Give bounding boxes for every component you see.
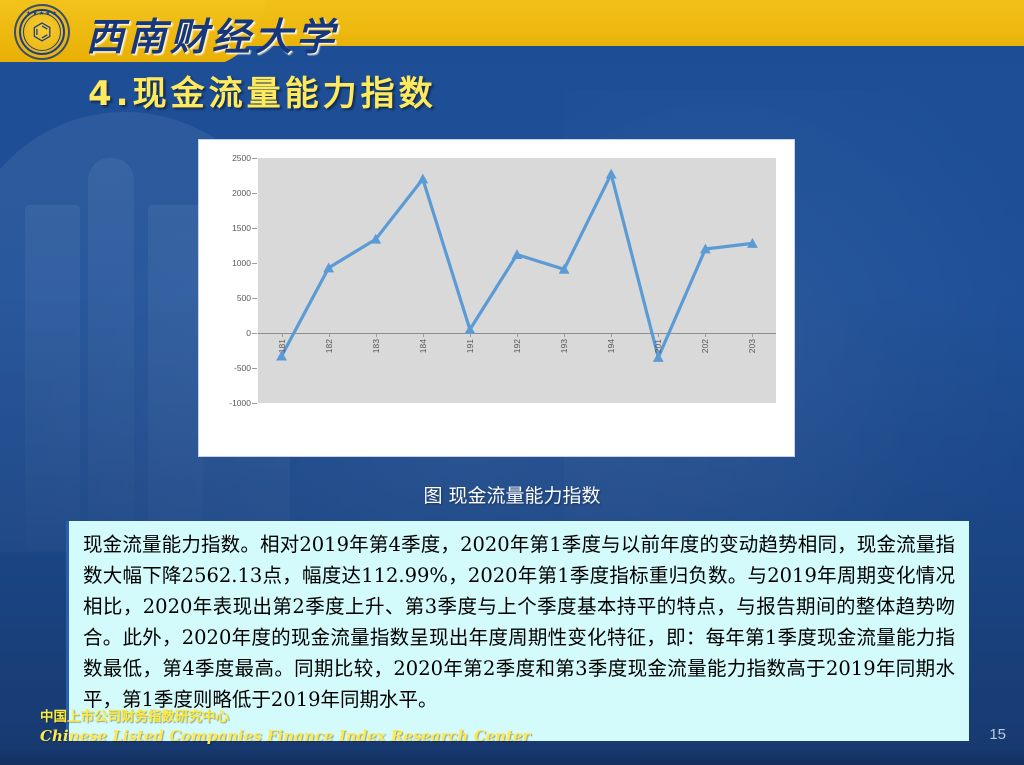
x-axis-tick-mark	[705, 333, 706, 337]
y-axis-tick-mark	[252, 263, 257, 264]
chart-plot-area	[258, 158, 776, 403]
y-axis-tick-mark	[252, 193, 257, 194]
body-paragraph: 现金流量能力指数。相对2019年第4季度，2020年第1季度与以前年度的变动趋势…	[83, 529, 955, 715]
x-axis-tick-mark	[517, 333, 518, 337]
y-axis-tick-label: 500	[199, 293, 251, 303]
bottom-strip	[0, 749, 1024, 765]
x-axis-tick-mark	[282, 333, 283, 337]
x-axis-tick-mark	[470, 333, 471, 337]
x-axis-tick-label: 182	[324, 339, 334, 353]
slide-canvas: ★★★★★ ⌬ 西南财经大学 4.现金流量能力指数 25002000150010…	[0, 0, 1024, 765]
footer-center-name-cn: 中国上市公司财务指数研究中心	[40, 705, 229, 725]
y-axis-tick-mark	[252, 368, 257, 369]
y-axis-tick-label: 2000	[199, 188, 251, 198]
x-axis-tick-mark	[658, 333, 659, 337]
header-banner: ★★★★★ ⌬ 西南财经大学	[0, 0, 1024, 62]
x-axis-tick-label: 191	[465, 339, 475, 353]
y-axis-tick-label: 2500	[199, 153, 251, 163]
page-title: 4.现金流量能力指数	[88, 66, 437, 115]
logo-stars-icon: ★★★★★	[14, 10, 70, 17]
x-axis-tick-mark	[376, 333, 377, 337]
y-axis-tick-mark	[252, 228, 257, 229]
page-number: 15	[989, 726, 1006, 743]
x-axis-tick-mark	[564, 333, 565, 337]
data-point-marker	[417, 174, 428, 184]
x-axis-tick-label: 193	[559, 339, 569, 353]
y-axis-tick-mark	[252, 403, 257, 404]
x-axis-tick-label: 181	[277, 339, 287, 353]
chart-caption: 图 现金流量能力指数	[0, 481, 1024, 508]
chart-container: 25002000150010005000-500-1000 1811821831…	[198, 139, 795, 457]
x-axis-tick-label: 202	[700, 339, 710, 353]
y-axis-tick-label: 1500	[199, 223, 251, 233]
series-line	[282, 174, 753, 357]
logo-glyph-icon: ⌬	[32, 22, 52, 45]
x-axis-tick-mark	[752, 333, 753, 337]
y-axis-tick-label: 0	[199, 328, 251, 338]
x-axis-tick-mark	[423, 333, 424, 337]
y-axis-tick-mark	[252, 158, 257, 159]
x-axis-tick-mark	[329, 333, 330, 337]
x-axis-tick-label: 183	[371, 339, 381, 353]
y-axis-tick-label: -1000	[199, 398, 251, 408]
y-axis-tick-mark	[252, 333, 257, 334]
x-axis-tick-label: 192	[512, 339, 522, 353]
footer-center-name-en: Chinese Listed Companies Finance Index R…	[40, 727, 530, 745]
chart-inner: 25002000150010005000-500-1000 1811821831…	[199, 140, 794, 456]
x-axis-tick-label: 203	[747, 339, 757, 353]
x-axis-tick-label: 201	[653, 339, 663, 353]
data-point-marker	[653, 352, 664, 362]
y-axis-tick-label: -500	[199, 363, 251, 373]
university-name: 西南财经大学	[86, 6, 338, 61]
x-axis-tick-label: 194	[606, 339, 616, 353]
university-logo-icon: ★★★★★ ⌬	[14, 4, 70, 60]
y-axis-tick-label: 1000	[199, 258, 251, 268]
x-axis-tick-mark	[611, 333, 612, 337]
data-point-marker	[606, 169, 617, 179]
line-series	[258, 158, 776, 403]
x-axis-tick-label: 184	[418, 339, 428, 353]
y-axis-tick-mark	[252, 298, 257, 299]
